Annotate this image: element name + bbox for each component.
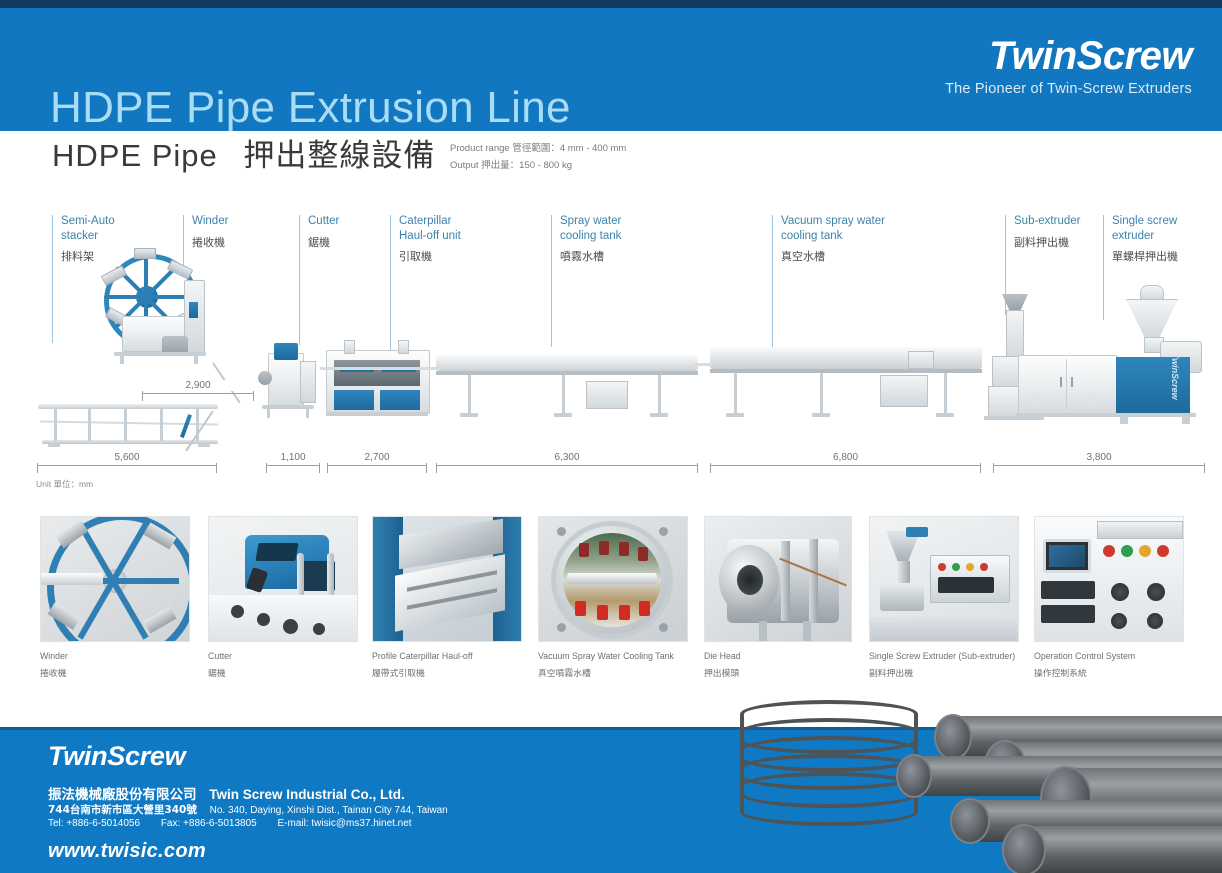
footer-logo: TwinScrew (48, 743, 185, 770)
gallery-caption: Winder捲收機 (40, 651, 190, 679)
pipe-line (320, 367, 440, 370)
winder-base (114, 352, 206, 356)
machine-single-screw-extruder: TwinScrew (1116, 285, 1218, 425)
gallery-thumbnail[interactable] (538, 516, 688, 642)
haul-off-base (326, 412, 428, 416)
spray-tank-foot (554, 413, 572, 417)
cutter-photo-table (209, 595, 358, 642)
gallery-caption: Operation Control System操作控制系統 (1034, 651, 1184, 679)
stacker-upright (124, 408, 127, 441)
gallery-caption: Die Head押出模頭 (704, 651, 852, 679)
winder-panel-accent (189, 302, 198, 318)
pipe-line (694, 363, 714, 366)
cutter-photo-knob (257, 613, 270, 626)
footer-address-en: No. 340, Daying, Xinshi Dist., Tainan Ci… (210, 805, 448, 816)
dimension-5600: 5,600 (37, 452, 217, 470)
cutter-photo-knob (313, 623, 325, 635)
dimension-line (436, 465, 698, 466)
ops-photo-button (1157, 545, 1169, 557)
spec-product-range: Product range 管徑範圍：4 mm - 400 mm (450, 141, 626, 158)
gallery-caption-en: Operation Control System (1034, 651, 1184, 663)
vacuum-tank-foot (726, 413, 744, 417)
winder-spoke (144, 255, 148, 297)
sub-extruder-hopper (1002, 294, 1028, 310)
sse-photo-blue-accent (906, 527, 928, 537)
footer-address-cn: 744台南市新市區大營里340號 (48, 804, 197, 816)
sse-photo-indicator (952, 563, 960, 571)
dimension-line (710, 465, 981, 466)
haul-off-cylinder (344, 340, 355, 354)
stacker-upright (88, 408, 91, 441)
pipe-opening (1002, 824, 1046, 873)
footer-address: 744台南市新市區大營里340號 No. 340, Daying, Xinshi… (48, 802, 448, 817)
vacuum-tank-lip (710, 369, 982, 373)
control-cabinet-divider (1066, 359, 1067, 409)
page-title-cn: HDPE Pipe 押出整線設備 (52, 140, 435, 172)
gallery-caption-en: Vacuum Spray Water Cooling Tank (538, 651, 688, 663)
spray-tank-pump (586, 381, 628, 409)
machine-winder (100, 250, 215, 385)
vac-photo-bolt (659, 623, 668, 632)
vacuum-tank-control-box (908, 351, 934, 369)
page-title-cn-text: 押出整線設備 (243, 138, 435, 174)
footer-contact: Tel: +886-6-5014056 Fax: +886-6-5013805 … (48, 818, 412, 829)
vac-photo-nozzle (619, 605, 630, 620)
gallery-thumbnail[interactable] (40, 516, 190, 642)
winder-photo-guide (41, 573, 103, 585)
spec-output: Output 押出量：150 - 800 kg (450, 158, 626, 175)
vac-photo-nozzle (599, 541, 609, 555)
machine-vacuum-spray-cooling-tank (710, 347, 982, 421)
pipe-stack (872, 708, 1222, 873)
dimension-6300: 6,300 (436, 452, 698, 470)
dimension-value: 1,100 (266, 452, 320, 463)
gallery-caption-en: Single Screw Extruder (Sub-extruder) (869, 651, 1019, 663)
cutter-motor (258, 371, 272, 385)
haul-off-cylinder (398, 340, 409, 354)
poster-page: TwinScrew The Pioneer of Twin-Screw Extr… (0, 0, 1222, 873)
footer-website[interactable]: www.twisic.com (48, 840, 206, 863)
gallery-caption-cn: 押出模頭 (704, 666, 852, 679)
ops-photo-readout (1041, 605, 1095, 623)
vacuum-tank-body (710, 347, 982, 369)
vac-photo-nozzle (579, 543, 589, 557)
vac-photo-nozzle (639, 601, 650, 616)
footer-company: 振法機械廠股份有限公司 Twin Screw Industrial Co., L… (48, 783, 405, 803)
gallery-caption-cn: 履帶式引取機 (372, 666, 522, 679)
vac-photo-nozzle (638, 547, 648, 561)
brand-tagline: The Pioneer of Twin-Screw Extruders (945, 81, 1192, 97)
dimension-line (327, 465, 427, 466)
gallery-thumbnail[interactable] (1034, 516, 1184, 642)
photo-gallery: Winder捲收機Cutter鋸機Profile Caterpillar Hau… (0, 516, 1222, 676)
gallery-item-single-screw-extruder-sub-extruder[interactable]: Single Screw Extruder (Sub-extruder)副料押出… (869, 516, 1019, 679)
haul-off-window (334, 360, 420, 386)
ops-photo-button (1103, 545, 1115, 557)
ops-photo-knob (1147, 613, 1163, 629)
sse-photo-motor (880, 583, 924, 611)
cutter-photo-knob (231, 605, 244, 618)
gallery-photo (209, 517, 357, 641)
pipe-opening (950, 798, 990, 844)
gallery-thumbnail[interactable] (208, 516, 358, 642)
ops-photo-knob (1147, 583, 1165, 601)
extruder-foot (1120, 416, 1128, 424)
stacker-diagonal (40, 420, 218, 425)
cutter-blue-head (274, 343, 298, 360)
vac-photo-bolt (557, 623, 566, 632)
vacuum-tank-strut (734, 373, 737, 413)
dimension-value: 6,800 (710, 452, 981, 463)
gallery-item-cutter[interactable]: Cutter鋸機 (208, 516, 358, 679)
brand-logo: TwinScrew (945, 36, 1192, 76)
dimension-3800: 3,800 (993, 452, 1205, 470)
haul-off-lower-panel (380, 390, 420, 410)
gallery-caption-cn: 副料押出機 (869, 666, 1019, 679)
gallery-item-die-head[interactable]: Die Head押出模頭 (704, 516, 852, 679)
dimension-value: 2,900 (142, 380, 254, 391)
die-photo-stand (759, 621, 767, 642)
die-photo-band (809, 539, 818, 623)
pipe-opening (934, 714, 972, 760)
gallery-item-profile-caterpillar-haul-off[interactable]: Profile Caterpillar Haul-off履帶式引取機 (372, 516, 522, 679)
spray-tank-strut (468, 375, 471, 413)
footer-fax: Fax: +886-6-5013805 (161, 818, 257, 829)
sse-photo-indicator (966, 563, 974, 571)
gallery-photo (870, 517, 1018, 641)
dimension-line (142, 393, 254, 394)
stacker-foot (198, 443, 210, 447)
gallery-caption-cn: 鋸機 (208, 666, 358, 679)
gallery-caption-cn: 操作控制系統 (1034, 666, 1184, 679)
flow-arrow-icon (212, 363, 254, 449)
dimension-line (37, 465, 217, 466)
die-photo-band (781, 541, 790, 621)
stacker-upright (160, 408, 163, 441)
spray-tank-strut (562, 375, 565, 413)
pipe-barrel (1022, 826, 1222, 873)
winder-spoke (104, 295, 146, 299)
dimension-2700: 2,700 (327, 452, 427, 470)
control-cabinet-base (1016, 413, 1118, 417)
ops-photo-button (1139, 545, 1151, 557)
gallery-caption: Single Screw Extruder (Sub-extruder)副料押出… (869, 651, 1019, 679)
extruder-foot (1182, 416, 1190, 424)
pipe-product-photo (722, 700, 1222, 873)
gallery-photo (539, 517, 687, 641)
stacker-actuator (180, 414, 192, 438)
machine-spray-water-cooling-tank (436, 355, 698, 421)
gallery-item-vacuum-spray-water-cooling-tank[interactable]: Vacuum Spray Water Cooling Tank真空噴霧水槽 (538, 516, 688, 679)
vacuum-tank-pump-unit (880, 375, 928, 407)
spec-block: Product range 管徑範圍：4 mm - 400 mm Output … (450, 141, 626, 174)
haul-off-lower-panel (334, 390, 374, 410)
gallery-caption-cn: 捲收機 (40, 666, 190, 679)
gallery-caption-cn: 真空噴霧水槽 (538, 666, 688, 679)
gallery-item-operation-control-system[interactable]: Operation Control System操作控制系統 (1034, 516, 1184, 679)
ops-photo-knob (1111, 583, 1129, 601)
sse-photo-base (870, 617, 1019, 642)
gallery-caption: Vacuum Spray Water Cooling Tank真空噴霧水槽 (538, 651, 688, 679)
spray-tank-foot (460, 413, 478, 417)
winder-leg (194, 355, 198, 364)
gallery-item-winder[interactable]: Winder捲收機 (40, 516, 190, 679)
spray-tank-strut (658, 375, 661, 413)
die-photo-stand (803, 621, 811, 642)
stacker-foot (48, 443, 60, 447)
gallery-photo (373, 517, 521, 641)
machine-control-cabinet (1018, 355, 1116, 423)
header-top-rule (0, 0, 1222, 8)
vacuum-tank-strut (944, 373, 947, 413)
gallery-thumbnail[interactable] (869, 516, 1019, 642)
vacuum-tank-strut (820, 373, 823, 413)
gallery-caption-en: Cutter (208, 651, 358, 663)
dimension-value: 5,600 (37, 452, 217, 463)
control-cabinet-handle (1071, 377, 1073, 387)
gallery-thumbnail[interactable] (372, 516, 522, 642)
cutter-side-panel (300, 361, 316, 403)
machine-diagram: TwinScrew (0, 195, 1222, 475)
sse-photo-display (938, 577, 994, 593)
dimension-value: 3,800 (993, 452, 1205, 463)
sub-extruder-barrel (1006, 310, 1024, 360)
gallery-caption-en: Winder (40, 651, 190, 663)
sse-photo-indicator (980, 563, 988, 571)
vac-photo-nozzle (597, 605, 608, 620)
pipe-opening (896, 754, 932, 798)
gallery-caption: Profile Caterpillar Haul-off履帶式引取機 (372, 651, 522, 679)
page-title-cn-en: HDPE Pipe (52, 138, 218, 173)
spray-tank-body (436, 355, 698, 371)
footer-tel[interactable]: Tel: +886-6-5014056 (48, 818, 140, 829)
control-cabinet-body (1018, 355, 1118, 415)
unit-note: Unit 單位：mm (36, 478, 93, 490)
control-cabinet-vent (1030, 395, 1044, 404)
ops-photo-button (1121, 545, 1133, 557)
vac-photo-nozzle (619, 542, 629, 556)
gallery-photo (705, 517, 851, 641)
footer-company-cn: 振法機械廠股份有限公司 (48, 787, 197, 803)
vac-photo-pipe (567, 573, 657, 584)
ops-photo-knob (1111, 613, 1127, 629)
cutter-housing (268, 353, 304, 407)
gallery-photo (41, 517, 189, 641)
extruder-brand-text: TwinScrew (1170, 353, 1180, 400)
gallery-caption: Cutter鋸機 (208, 651, 358, 679)
footer-company-en: Twin Screw Industrial Co., Ltd. (209, 787, 405, 802)
ops-photo-meter-row (1097, 521, 1183, 539)
gallery-caption-en: Profile Caterpillar Haul-off (372, 651, 522, 663)
cutter-photo-knob (283, 619, 298, 634)
gallery-caption-en: Die Head (704, 651, 852, 663)
sse-photo-indicator (938, 563, 946, 571)
vacuum-tank-foot (936, 413, 954, 417)
dimension-value: 6,300 (436, 452, 698, 463)
dimension-line (266, 465, 320, 466)
winder-leg (120, 355, 124, 364)
dimension-value: 2,700 (327, 452, 427, 463)
die-photo-bore (737, 565, 763, 595)
extruder-hopper-lid (1140, 285, 1164, 301)
cutter-leg (267, 408, 270, 418)
footer: TwinScrew 振法機械廠股份有限公司 Twin Screw Industr… (0, 727, 1222, 873)
spray-tank-foot (650, 413, 668, 417)
dimension-2900: 2,900 (142, 380, 254, 398)
machine-caterpillar-haul-off (326, 340, 428, 420)
control-cabinet-vent (1084, 395, 1098, 404)
gallery-photo (1035, 517, 1183, 641)
unit-note-text: Unit 單位：mm (36, 479, 93, 489)
vacuum-tank-foot (812, 413, 830, 417)
vac-photo-nozzle (575, 601, 586, 616)
winder-claw (134, 248, 156, 259)
control-cabinet-handle (1060, 377, 1062, 387)
gallery-thumbnail[interactable] (704, 516, 852, 642)
cutter-photo-window (255, 543, 298, 561)
dimension-line (993, 465, 1205, 466)
extruder-hopper (1126, 299, 1178, 339)
ops-photo-hmi-screen (1049, 545, 1085, 567)
cutter-leg (306, 408, 309, 418)
winder-spoke (146, 295, 188, 299)
footer-email[interactable]: E-mail: twisic@ms37.hinet.net (278, 818, 412, 829)
page-title-en: HDPE Pipe Extrusion Line (50, 86, 571, 130)
vac-photo-bolt (557, 527, 566, 536)
stacker-top-rail (38, 404, 218, 409)
stacker-upright (54, 408, 57, 441)
dimension-6800: 6,800 (710, 452, 981, 470)
ops-photo-readout (1041, 581, 1095, 599)
brand-block: TwinScrew The Pioneer of Twin-Screw Extr… (945, 36, 1192, 97)
dimension-1100: 1,100 (266, 452, 320, 470)
machine-cutter (258, 335, 320, 420)
vac-photo-bolt (659, 527, 668, 536)
